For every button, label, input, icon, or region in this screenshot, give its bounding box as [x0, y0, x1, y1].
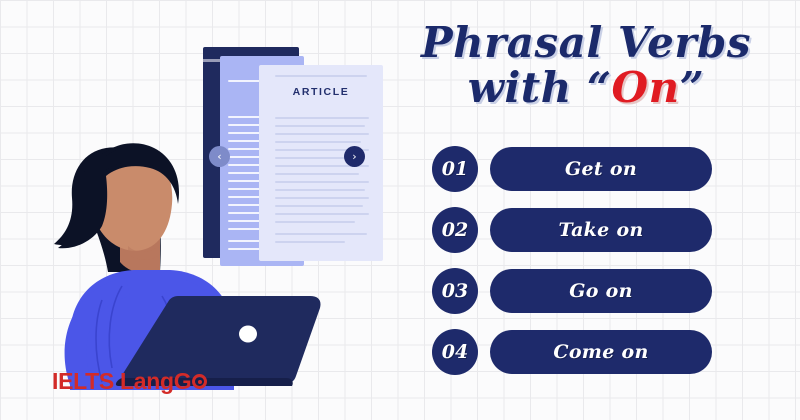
logo-text-langgo: LangG — [120, 368, 191, 395]
list-item-label[interactable]: Go on — [490, 269, 712, 313]
brand-logo: IELTS LangG — [52, 368, 207, 395]
page-title: Phrasal Verbs with “On” — [386, 22, 786, 110]
list-item-number: 02 — [432, 207, 478, 253]
title-line-1: Phrasal Verbs — [386, 22, 786, 65]
list-item-label[interactable]: Get on — [490, 147, 712, 191]
prev-glyph: ‹ — [217, 150, 221, 163]
target-o-icon — [192, 374, 207, 389]
title-suffix: ” — [680, 63, 705, 112]
logo-text-ielts: IELTS — [52, 368, 114, 395]
title-line-2: with “On” — [386, 67, 786, 110]
title-prefix: with “ — [468, 63, 612, 112]
title-highlight: On — [612, 63, 680, 112]
list-item-label[interactable]: Come on — [490, 330, 712, 374]
slide-canvas: ARTICLE ‹ › Phrasal Verbs — [0, 0, 800, 420]
list-item-number: 04 — [432, 329, 478, 375]
list-item-label[interactable]: Take on — [490, 208, 712, 252]
document-heading: ARTICLE — [259, 86, 383, 98]
list-item-number: 01 — [432, 146, 478, 192]
next-glyph: › — [352, 150, 356, 163]
chevron-right-icon[interactable]: › — [344, 146, 365, 167]
article-documents-illustration: ARTICLE ‹ › — [203, 47, 393, 272]
document-card-front: ARTICLE — [259, 65, 383, 261]
chevron-left-icon[interactable]: ‹ — [209, 146, 230, 167]
list-item-number: 03 — [432, 268, 478, 314]
